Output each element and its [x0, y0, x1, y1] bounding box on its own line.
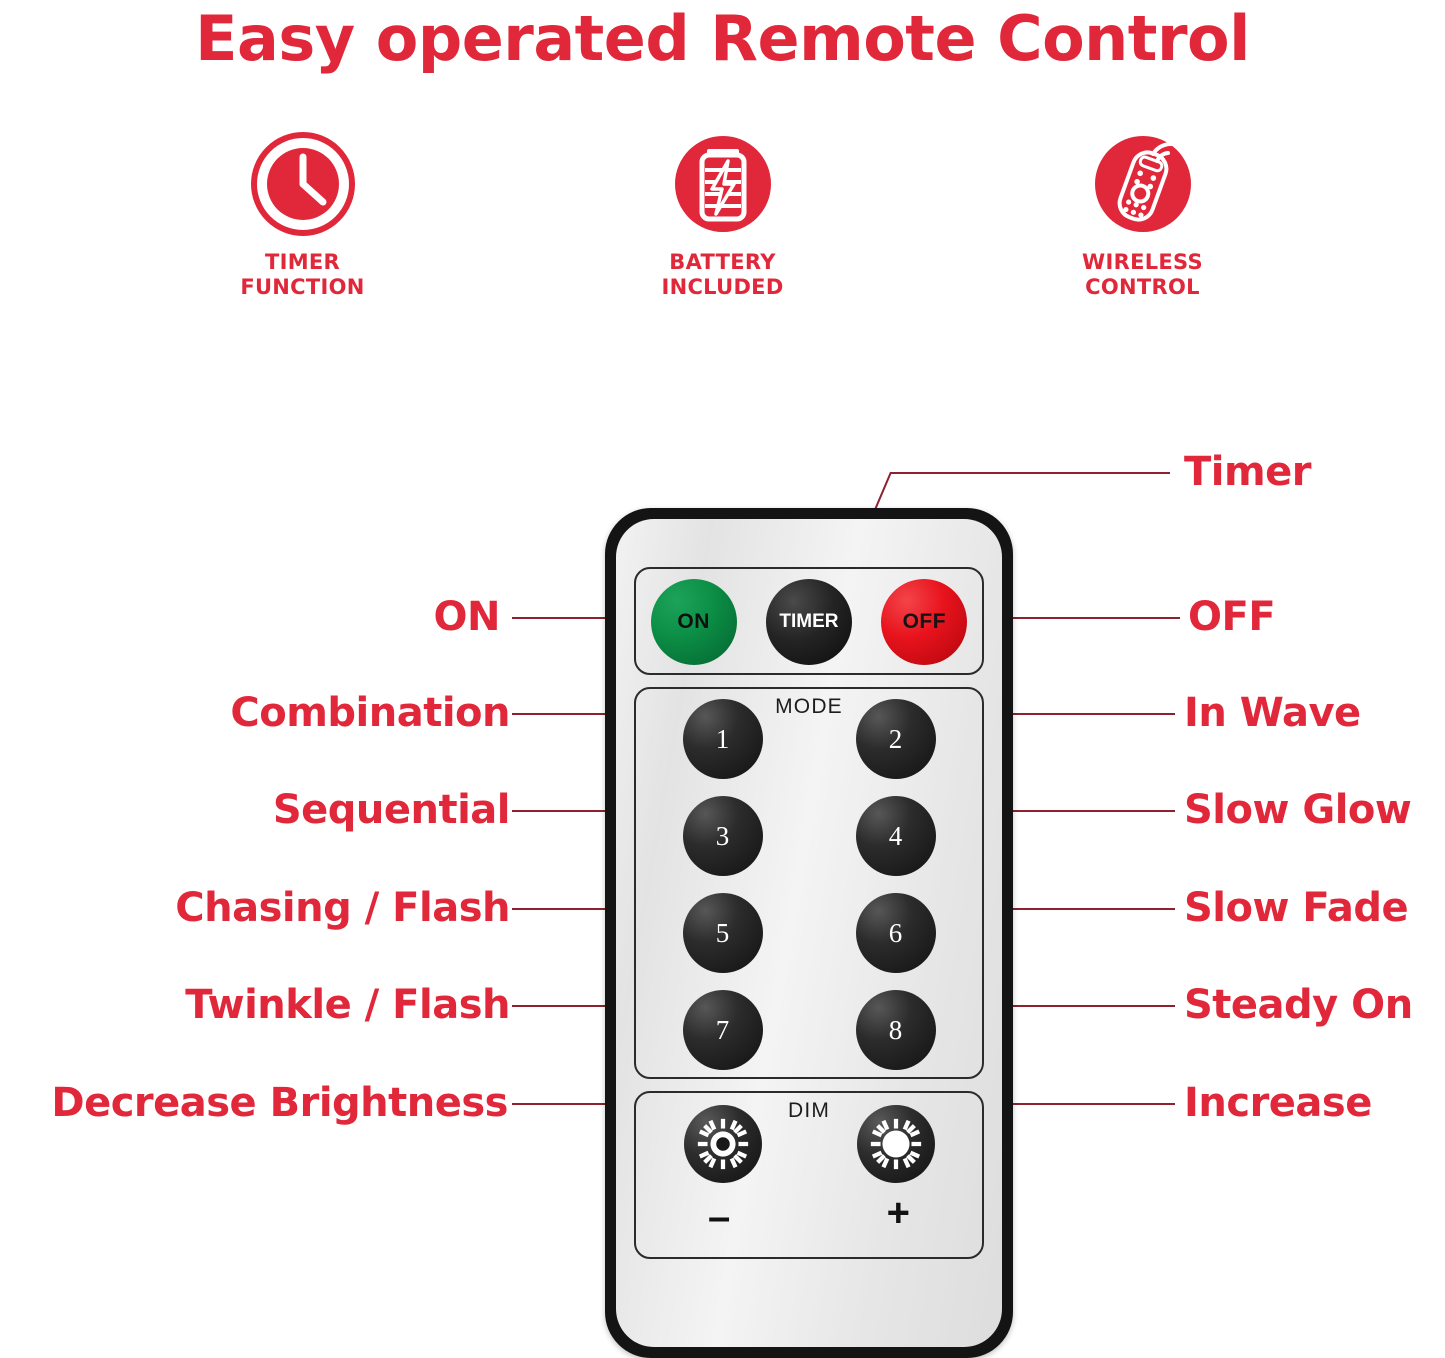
- callout-timer: Timer: [1184, 449, 1311, 495]
- remote-control: ON TIMER OFF MODE 1 2: [605, 508, 1013, 1358]
- mode-button-6[interactable]: 6: [856, 893, 936, 973]
- dim-panel: DIM: [634, 1091, 984, 1259]
- off-button-label: OFF: [903, 610, 947, 634]
- clock-icon: [251, 132, 355, 236]
- remote-icon: [1091, 132, 1195, 236]
- mode-button-4[interactable]: 4: [856, 796, 936, 876]
- callout-sequential: Sequential: [273, 787, 510, 833]
- timer-button[interactable]: TIMER: [766, 579, 852, 665]
- callout-on: ON: [434, 594, 500, 640]
- remote-face: ON TIMER OFF MODE 1 2: [616, 519, 1002, 1347]
- feature-timer: TIMER FUNCTION: [208, 132, 398, 300]
- feature-battery-label: BATTERY INCLUDED: [661, 250, 783, 300]
- dim-increase-button[interactable]: [857, 1105, 935, 1183]
- callout-inwave: In Wave: [1184, 690, 1361, 736]
- feature-timer-label: TIMER FUNCTION: [240, 250, 364, 300]
- callout-slowglow: Slow Glow: [1184, 787, 1411, 833]
- mode-button-2-label: 2: [889, 724, 903, 755]
- mode-button-5[interactable]: 5: [683, 893, 763, 973]
- battery-icon: [671, 132, 775, 236]
- callout-combination: Combination: [230, 690, 510, 736]
- on-button-label: ON: [677, 610, 710, 634]
- callout-decrease: Decrease Brightness: [51, 1080, 508, 1126]
- callout-chasing: Chasing / Flash: [175, 885, 510, 931]
- callout-off: OFF: [1188, 594, 1275, 640]
- mode-button-2[interactable]: 2: [856, 699, 936, 779]
- dim-plus-sign: +: [887, 1193, 910, 1233]
- mode-button-3-label: 3: [716, 821, 730, 852]
- mode-button-3[interactable]: 3: [683, 796, 763, 876]
- mode-button-6-label: 6: [889, 918, 903, 949]
- page-title: Easy operated Remote Control: [0, 2, 1445, 75]
- callout-twinkle: Twinkle / Flash: [185, 982, 510, 1028]
- mode-button-8-label: 8: [889, 1015, 903, 1046]
- callout-increase: Increase: [1184, 1080, 1372, 1126]
- sun-bright-icon: [867, 1115, 925, 1173]
- mode-button-8[interactable]: 8: [856, 990, 936, 1070]
- timer-button-label: TIMER: [779, 611, 838, 633]
- feature-battery: BATTERY INCLUDED: [628, 132, 818, 300]
- mode-button-5-label: 5: [716, 918, 730, 949]
- feature-wireless-label: WIRELESS CONTROL: [1082, 250, 1203, 300]
- dim-minus-sign: –: [708, 1197, 730, 1237]
- mode-button-7[interactable]: 7: [683, 990, 763, 1070]
- sun-dim-icon: [694, 1115, 752, 1173]
- mode-button-4-label: 4: [889, 821, 903, 852]
- feature-wireless: WIRELESS CONTROL: [1048, 132, 1238, 300]
- callout-slowfade: Slow Fade: [1184, 885, 1408, 931]
- leader-timer-horizontal: [890, 472, 1170, 474]
- on-button[interactable]: ON: [651, 579, 737, 665]
- mode-button-1-label: 1: [716, 724, 730, 755]
- mode-button-1[interactable]: 1: [683, 699, 763, 779]
- off-button[interactable]: OFF: [881, 579, 967, 665]
- power-panel: ON TIMER OFF: [634, 567, 984, 675]
- dim-decrease-button[interactable]: [684, 1105, 762, 1183]
- callout-steadyon: Steady On: [1184, 982, 1413, 1028]
- mode-button-7-label: 7: [716, 1015, 730, 1046]
- feature-badges: TIMER FUNCTION BATTERY INCLUDED: [0, 132, 1445, 300]
- mode-panel: MODE 1 2 3 4 5: [634, 687, 984, 1079]
